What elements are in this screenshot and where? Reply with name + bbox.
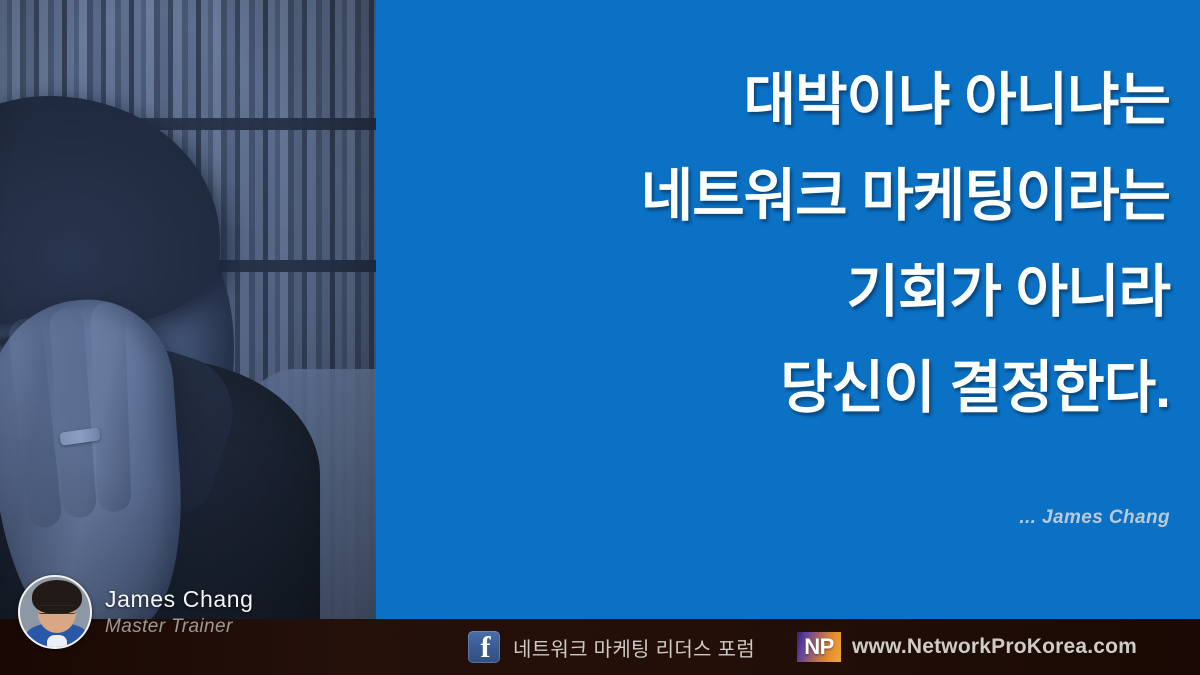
speaker-photo — [0, 0, 376, 619]
website-url[interactable]: www.NetworkProKorea.com — [852, 635, 1137, 659]
quote-line-2: 네트워크 마케팅이라는 — [410, 148, 1170, 244]
speaker-role: Master Trainer — [105, 616, 254, 637]
facebook-group[interactable]: f 네트워크 마케팅 리더스 포럼 — [468, 631, 755, 663]
quote-attribution: ... James Chang — [410, 507, 1170, 529]
facebook-f-glyph: f — [468, 631, 500, 663]
speaker-name: James Chang — [105, 587, 254, 613]
avatar-shirt — [47, 635, 67, 649]
np-logo-icon[interactable]: NP — [797, 632, 841, 662]
photo-vignette — [0, 0, 376, 619]
facebook-page-label[interactable]: 네트워크 마케팅 리더스 포럼 — [513, 633, 755, 662]
website-group[interactable]: NP www.NetworkProKorea.com — [797, 632, 1137, 662]
quote-line-3: 기회가 아니라 — [410, 244, 1170, 340]
slide-canvas: 대박이냐 아니냐는 네트워크 마케팅이라는 기회가 아니라 당신이 결정한다. … — [0, 0, 1200, 675]
facebook-icon[interactable]: f — [468, 631, 500, 663]
speaker-text-block: James Chang Master Trainer — [105, 587, 254, 637]
quote-line-4: 당신이 결정한다. — [410, 340, 1170, 436]
avatar — [18, 575, 92, 649]
quote-line-1: 대박이냐 아니냐는 — [410, 52, 1170, 148]
glasses-icon — [38, 605, 76, 614]
np-logo-text: NP — [804, 636, 834, 658]
quote-text-block: 대박이냐 아니냐는 네트워크 마케팅이라는 기회가 아니라 당신이 결정한다. — [410, 52, 1170, 436]
quote-panel: 대박이냐 아니냐는 네트워크 마케팅이라는 기회가 아니라 당신이 결정한다. … — [376, 0, 1200, 619]
speaker-identity: James Chang Master Trainer — [18, 575, 254, 649]
